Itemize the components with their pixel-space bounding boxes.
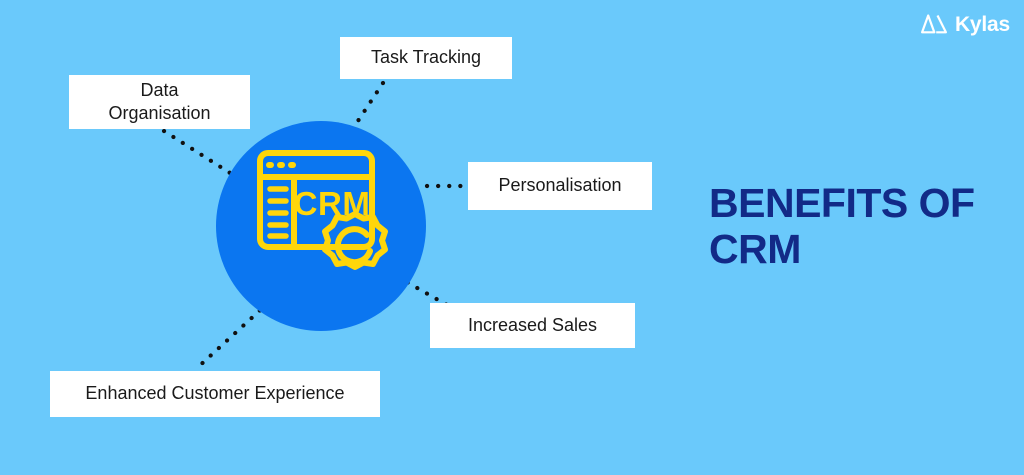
benefit-label-increased-sales[interactable]: Increased Sales bbox=[430, 303, 635, 348]
benefits-of-crm-infographic: CRM Data Organisation Task Tracking Pers… bbox=[0, 0, 1024, 475]
brand-name: Kylas bbox=[955, 14, 1010, 35]
benefit-label-personalisation[interactable]: Personalisation bbox=[468, 162, 652, 210]
brand-logo[interactable]: Kylas bbox=[920, 12, 1010, 36]
page-title: BENEFITS OF CRM bbox=[709, 180, 1014, 273]
benefit-label-enhanced-customer-experience[interactable]: Enhanced Customer Experience bbox=[50, 371, 380, 417]
mountain-logo-icon bbox=[920, 12, 948, 36]
benefit-label-task-tracking[interactable]: Task Tracking bbox=[340, 37, 512, 79]
benefit-label-data-organisation[interactable]: Data Organisation bbox=[69, 75, 250, 129]
crm-window-gear-icon: CRM bbox=[254, 147, 394, 279]
connector-enhanced-customer bbox=[196, 303, 268, 369]
